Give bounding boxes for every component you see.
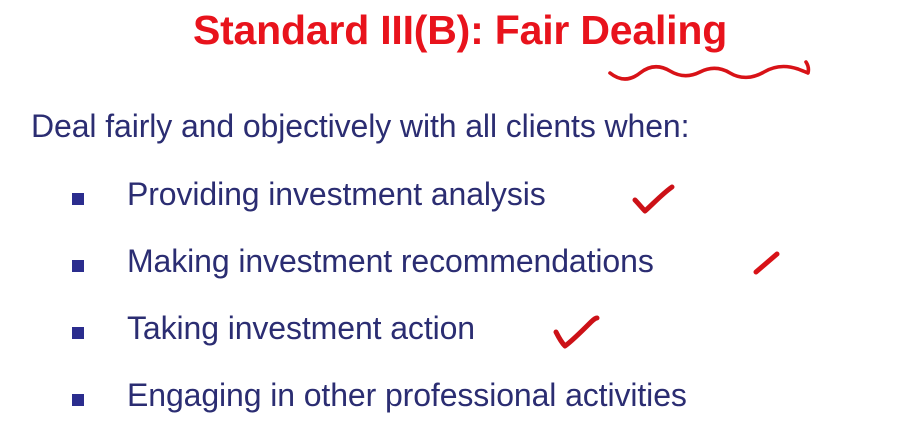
bullet-list: Providing investment analysis Making inv… xyxy=(0,176,920,438)
red-check-mark-icon xyxy=(550,312,602,354)
list-item-label: Making investment recommendations xyxy=(127,243,654,280)
red-check-mark-icon xyxy=(630,181,678,217)
list-item: Providing investment analysis xyxy=(0,176,920,243)
page-title: Standard III(B): Fair Dealing xyxy=(0,8,920,54)
square-bullet-icon xyxy=(72,394,84,406)
square-bullet-icon xyxy=(72,193,84,205)
red-slash-mark-icon xyxy=(750,249,786,279)
red-wavy-underline-icon xyxy=(606,56,818,84)
list-item-label: Providing investment analysis xyxy=(127,176,546,213)
list-item: Making investment recommendations xyxy=(0,243,920,310)
square-bullet-icon xyxy=(72,260,84,272)
list-item-label: Engaging in other professional activitie… xyxy=(127,377,687,414)
list-item-label: Taking investment action xyxy=(127,310,475,347)
presentation-slide: Standard III(B): Fair Dealing Deal fairl… xyxy=(0,0,920,438)
list-item: Engaging in other professional activitie… xyxy=(0,377,920,438)
list-item: Taking investment action xyxy=(0,310,920,377)
lead-sentence: Deal fairly and objectively with all cli… xyxy=(31,108,689,144)
square-bullet-icon xyxy=(72,327,84,339)
